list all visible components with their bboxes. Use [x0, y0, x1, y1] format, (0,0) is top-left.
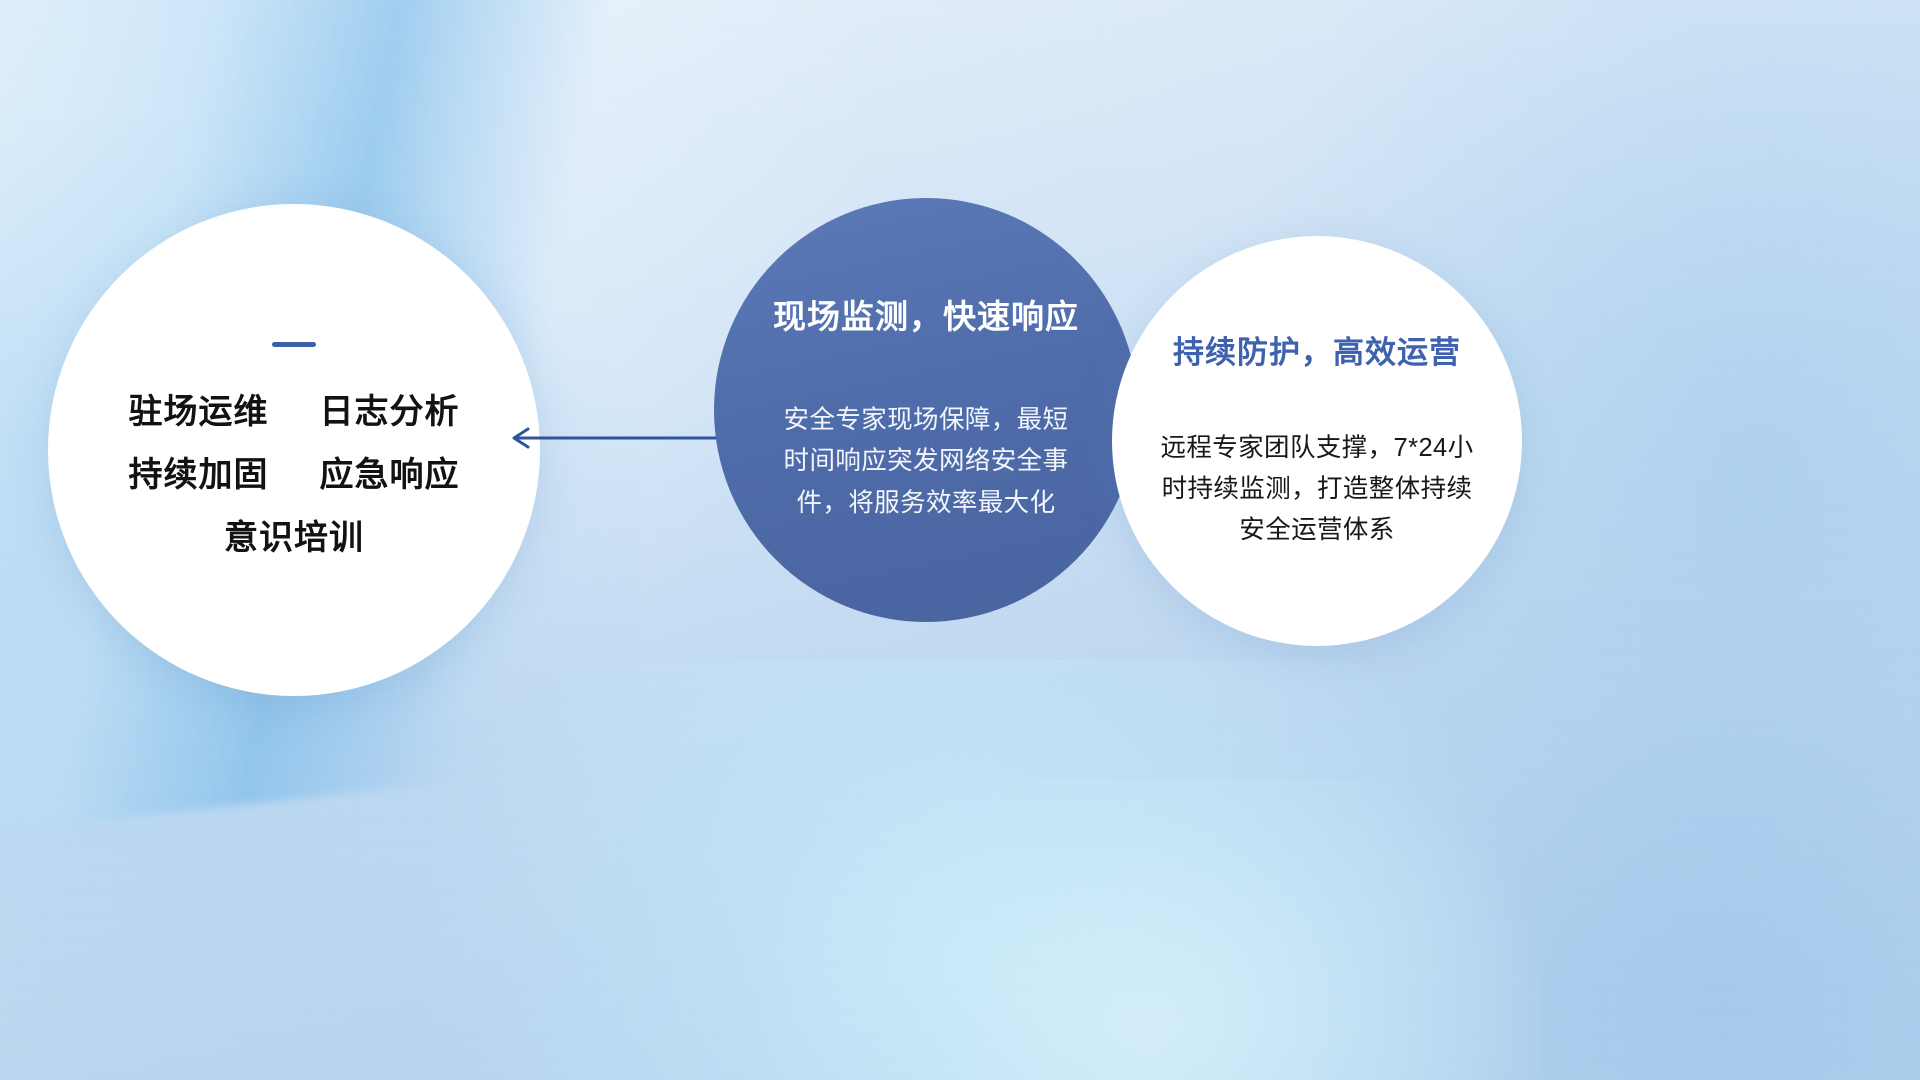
keyword-row-3: 意识培训 — [224, 519, 364, 558]
continuous-protection-body: 远程专家团队支撑，7*24小时持续监测，打造整体持续安全运营体系 — [1152, 428, 1482, 552]
three-circle-diagram: 驻场运维 日志分析 持续加固 应急响应 意识培训 现场监测，快速响应 安全专家现… — [0, 0, 1920, 1080]
arrow-left-icon — [494, 424, 722, 452]
title-divider — [272, 342, 316, 347]
keyword-yishipeixun: 意识培训 — [224, 519, 364, 557]
capability-keywords-circle[interactable]: 驻场运维 日志分析 持续加固 应急响应 意识培训 — [48, 204, 540, 696]
onsite-monitoring-circle[interactable]: 现场监测，快速响应 安全专家现场保障，最短时间响应突发网络安全事件，将服务效率最… — [714, 198, 1138, 622]
keyword-chixujiagu: 持续加固 — [129, 456, 269, 494]
keyword-row-1: 驻场运维 日志分析 — [129, 393, 460, 432]
keyword-zhuchangyunwei: 驻场运维 — [129, 393, 269, 431]
keyword-row-2: 持续加固 应急响应 — [129, 456, 460, 495]
onsite-monitoring-title: 现场监测，快速响应 — [773, 290, 1079, 338]
onsite-monitoring-body: 安全专家现场保障，最短时间响应突发网络安全事件，将服务效率最大化 — [781, 400, 1071, 524]
continuous-protection-title: 持续防护，高效运营 — [1173, 327, 1461, 372]
keyword-yingjixiangying: 应急响应 — [319, 456, 459, 494]
continuous-protection-circle[interactable]: 持续防护，高效运营 远程专家团队支撑，7*24小时持续监测，打造整体持续安全运营… — [1112, 236, 1522, 646]
keyword-rizhifenxi: 日志分析 — [319, 393, 459, 431]
